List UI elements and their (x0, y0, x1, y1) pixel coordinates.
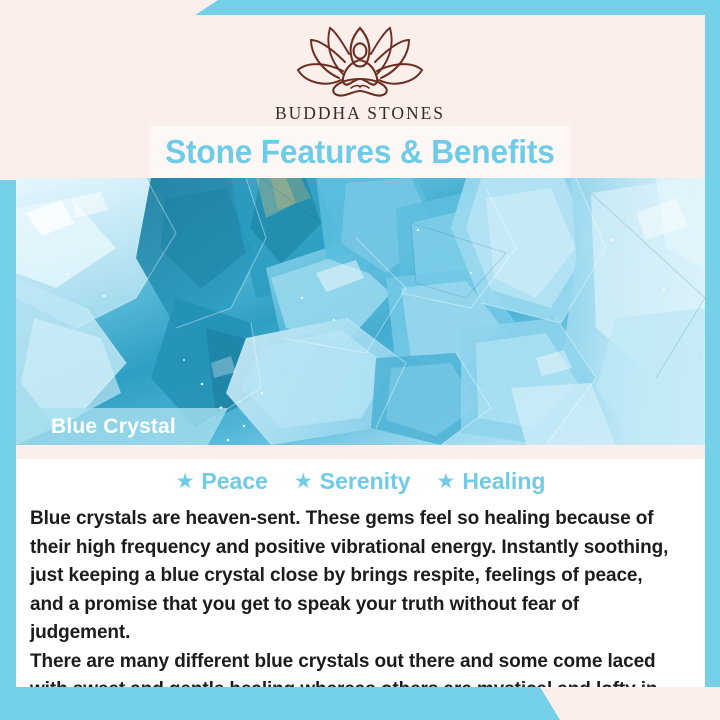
benefit-item-healing: ★ Healing (437, 468, 546, 495)
benefits-row: ★ Peace ★ Serenity ★ Healing (16, 459, 705, 499)
benefit-label: Healing (462, 468, 545, 495)
benefit-label: Serenity (320, 468, 411, 495)
star-icon: ★ (176, 471, 195, 492)
benefit-item-serenity: ★ Serenity (294, 468, 411, 495)
decor-band-left (0, 180, 16, 720)
description-paragraph-1: Blue crystals are heaven-sent. These gem… (30, 505, 681, 648)
content-panel: ★ Peace ★ Serenity ★ Healing Blue crysta… (16, 459, 705, 687)
section-title-banner: Stone Features & Benefits (150, 126, 570, 178)
lotus-meditation-icon (285, 22, 435, 100)
page-root: BUDDHA STONES (0, 0, 720, 720)
star-icon: ★ (294, 471, 313, 492)
blue-crystal-photo: Blue Crystal (16, 178, 705, 445)
decor-band-bottom (0, 687, 560, 720)
brand-name: BUDDHA STONES (275, 103, 445, 124)
stone-caption: Blue Crystal (16, 408, 228, 445)
page-title: Stone Features & Benefits (165, 133, 555, 171)
decor-band-bottom-cream (540, 687, 720, 720)
decor-band-top (195, 0, 720, 15)
photo-content-separator (16, 445, 705, 459)
benefit-label: Peace (201, 468, 268, 495)
benefit-item-peace: ★ Peace (176, 468, 268, 495)
star-icon: ★ (437, 471, 456, 492)
decor-band-right (705, 0, 720, 720)
brand-logo: BUDDHA STONES (0, 22, 720, 124)
stone-caption-text: Blue Crystal (51, 415, 176, 439)
